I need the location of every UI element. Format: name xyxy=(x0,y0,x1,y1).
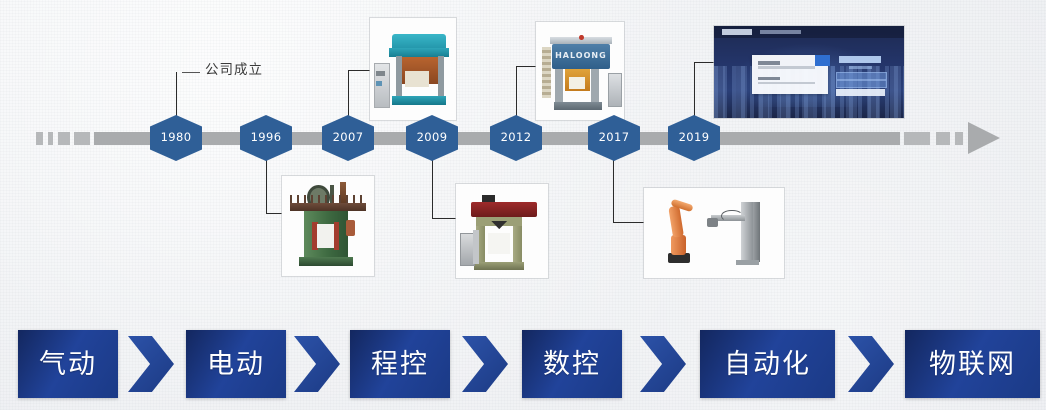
timeline-infographic: 公司成立 1980 1996 2007 2009 2012 2017 2019 … xyxy=(0,0,1046,410)
flow-stage-label: 物联网 xyxy=(929,351,1016,378)
flow-stage-label: 数控 xyxy=(543,351,601,378)
photo-1996-canvas xyxy=(282,176,374,276)
connector-2009-h xyxy=(432,218,458,219)
photo-2012-canvas: HALOONG xyxy=(536,22,624,120)
connector-2019-h xyxy=(694,62,716,63)
photo-2009-red-olive-press[interactable] xyxy=(456,184,548,278)
photo-2007-teal-press[interactable] xyxy=(370,18,456,120)
milestone-hex-2012[interactable]: 2012 xyxy=(490,115,542,161)
milestone-year-label: 2017 xyxy=(599,132,630,144)
dashboard-username-field[interactable] xyxy=(836,72,887,80)
dashboard-panel-title xyxy=(839,56,881,62)
photo-2019-iot-dashboard[interactable] xyxy=(714,26,904,118)
milestone-hex-2009[interactable]: 2009 xyxy=(406,115,458,161)
dashboard-nav-text xyxy=(760,30,802,35)
connector-2012-h xyxy=(516,66,538,67)
flow-stage-label: 程控 xyxy=(371,351,429,378)
milestone-hex-1980[interactable]: 1980 xyxy=(150,115,202,161)
flow-stage-electric[interactable]: 电动 xyxy=(186,330,286,398)
connector-2007-h xyxy=(348,70,372,71)
photo-2009-canvas xyxy=(456,184,548,278)
flow-arrow-icon-5 xyxy=(848,336,894,392)
photo-2017-canvas xyxy=(644,188,784,278)
milestone-hex-2007[interactable]: 2007 xyxy=(322,115,374,161)
flow-arrow-icon-3 xyxy=(462,336,508,392)
flow-stage-iot[interactable]: 物联网 xyxy=(905,330,1040,398)
connector-2019-v xyxy=(694,62,695,118)
milestone-year-label: 2012 xyxy=(501,132,532,144)
axis-dash-3 xyxy=(58,132,70,145)
milestone-year-label: 1996 xyxy=(251,132,282,144)
milestone-year-label: 2007 xyxy=(333,132,364,144)
technology-evolution-flow: 气动 电动 程控 数控 自动化 物联网 xyxy=(0,330,1046,402)
flow-stage-label: 气动 xyxy=(39,351,97,378)
flow-stage-label: 自动化 xyxy=(724,351,811,378)
connector-2009-v xyxy=(432,160,433,218)
flow-arrow-icon-1 xyxy=(128,336,174,392)
connector-2017-h xyxy=(613,222,645,223)
flow-stage-automation[interactable]: 自动化 xyxy=(700,330,835,398)
dashboard-login-button[interactable] xyxy=(836,89,885,95)
connector-2007-v xyxy=(348,70,349,118)
photo-1996-green-press[interactable] xyxy=(282,176,374,276)
dashboard-card-accent xyxy=(815,55,830,65)
axis-dash-6 xyxy=(936,132,950,145)
flow-arrow-icon-4 xyxy=(640,336,686,392)
milestone-hex-1996[interactable]: 1996 xyxy=(240,115,292,161)
flow-arrow-icon-2 xyxy=(294,336,340,392)
dashboard-password-field[interactable] xyxy=(836,80,887,88)
photo-2007-canvas xyxy=(370,18,456,120)
founding-note-label: 公司成立 xyxy=(205,58,263,78)
axis-dash-4 xyxy=(74,132,90,145)
connector-1980 xyxy=(176,72,177,117)
connector-1980-dash xyxy=(182,72,200,73)
flow-stage-label: 电动 xyxy=(207,351,265,378)
axis-dash-1 xyxy=(36,132,43,145)
dashboard-logo xyxy=(722,29,752,35)
axis-arrowhead-icon xyxy=(968,122,1000,154)
milestone-year-label: 1980 xyxy=(161,132,192,144)
milestone-hex-2019[interactable]: 2019 xyxy=(668,115,720,161)
connector-2017-v xyxy=(613,160,614,222)
photo-2019-canvas xyxy=(714,26,904,118)
flow-stage-pneumatic[interactable]: 气动 xyxy=(18,330,118,398)
photo-2017-robots[interactable] xyxy=(644,188,784,278)
photo-2012-brand-text: HALOONG xyxy=(555,50,606,61)
connector-1996-v xyxy=(266,160,267,213)
axis-dash-5 xyxy=(904,132,930,145)
milestone-hex-2017[interactable]: 2017 xyxy=(588,115,640,161)
milestone-year-label: 2009 xyxy=(417,132,448,144)
axis-dash-2 xyxy=(48,132,53,145)
milestone-year-label: 2019 xyxy=(679,132,710,144)
photo-2012-haloong-press[interactable]: HALOONG xyxy=(536,22,624,120)
flow-stage-program-control[interactable]: 程控 xyxy=(350,330,450,398)
connector-2012-v xyxy=(516,66,517,118)
flow-stage-cnc[interactable]: 数控 xyxy=(522,330,622,398)
axis-dash-7 xyxy=(955,132,963,145)
